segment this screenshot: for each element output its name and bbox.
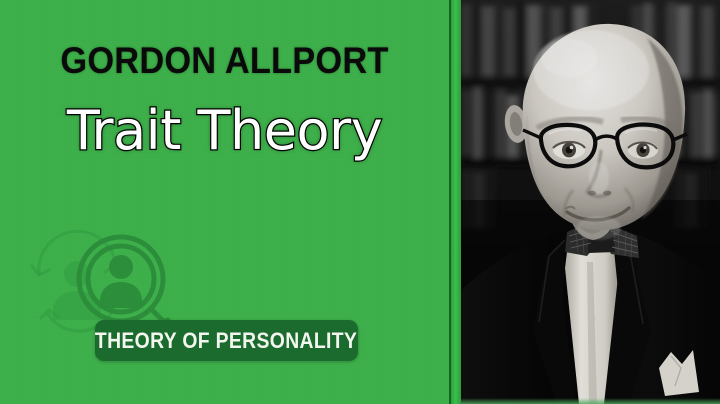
status-badge-label: THEORY OF PERSONALITY: [95, 328, 357, 354]
page-title-person-name: GORDON ALLPORT: [16, 42, 434, 79]
panel-divider-accent: [451, 0, 461, 404]
page-subtitle-topic: Trait Theory: [0, 104, 449, 158]
slide-canvas: GORDON ALLPORT Trait Theory THEORY OF PE…: [0, 0, 720, 404]
portrait-photo-panel: [461, 0, 720, 404]
gordon-allport-portrait: [461, 0, 720, 404]
status-badge: THEORY OF PERSONALITY: [95, 320, 358, 361]
